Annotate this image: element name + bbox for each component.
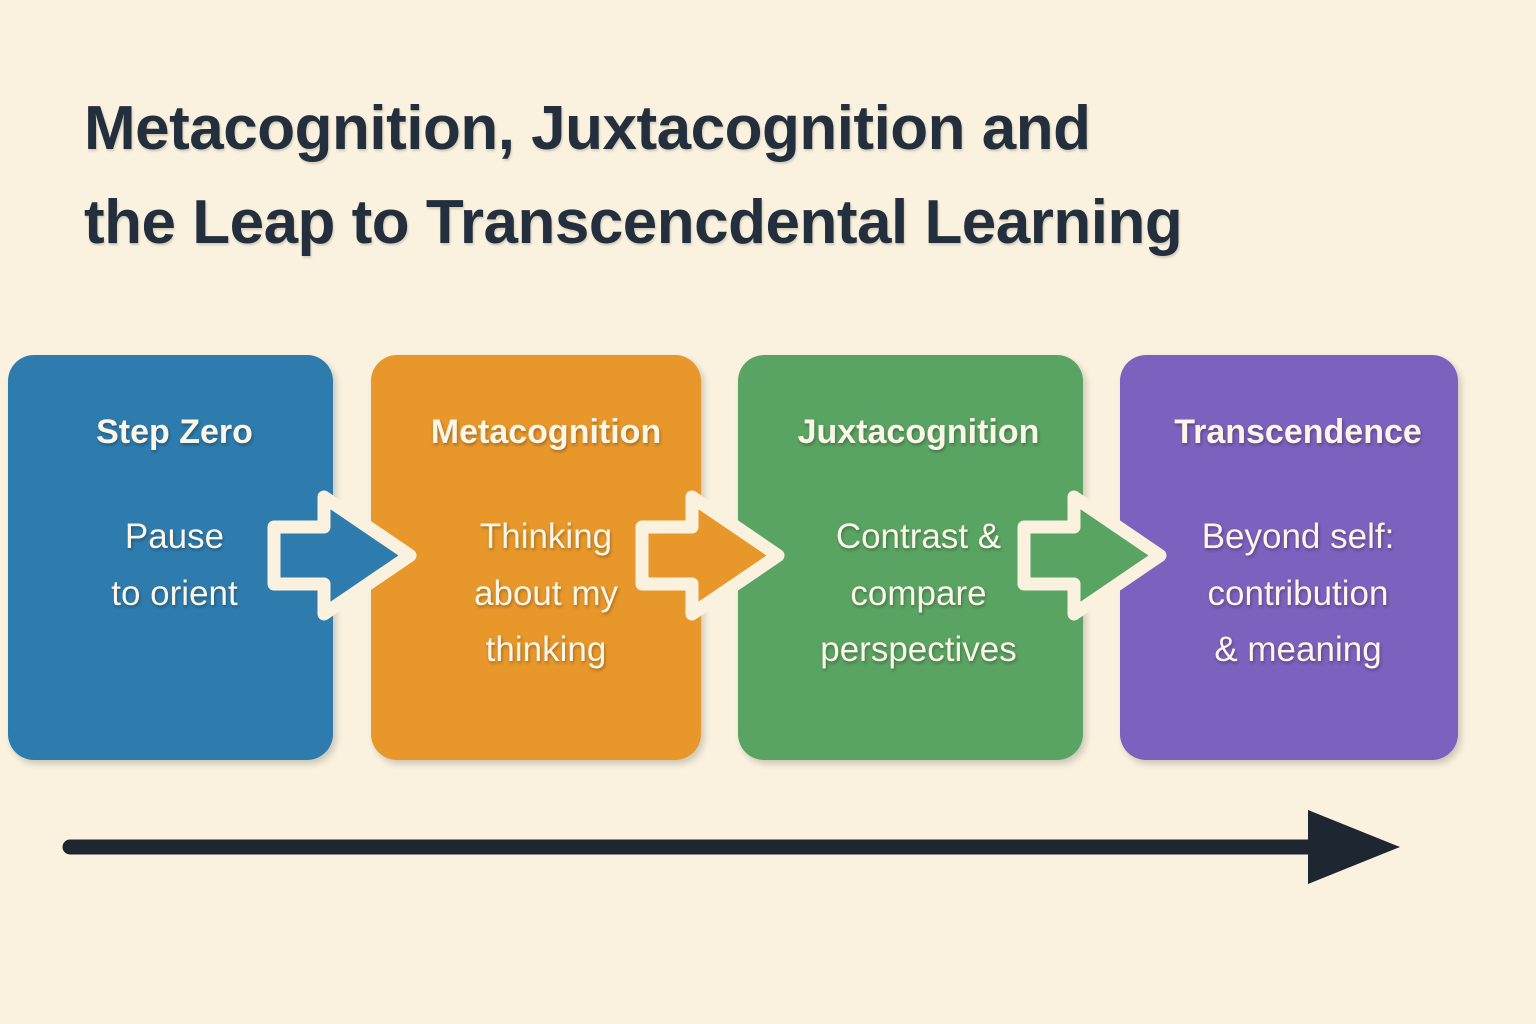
page-title: Metacognition, Juxtacognition and the Le… [84,82,1424,270]
stage-title-juxtacognition: Juxtacognition [798,413,1040,451]
stage-body-metacognition: Thinking about my thinking [474,509,618,679]
stage-flow: Step Zero Pause to orient Metacognition … [0,355,1536,760]
stage-box-metacognition[interactable]: Metacognition Thinking about my thinking [371,355,701,760]
stage-body-juxtacognition: Contrast & compare perspectives [820,509,1016,679]
stage-title-metacognition: Metacognition [431,413,661,451]
stage-title-step-zero: Step Zero [96,413,253,451]
diagram-canvas: Metacognition, Juxtacognition and the Le… [0,0,1536,1024]
stage-title-transcendence: Transcendence [1174,413,1422,451]
progress-arrow [60,800,1410,900]
arrow-head-icon [1308,810,1400,884]
stage-body-transcendence: Beyond self: contribution & meaning [1202,509,1395,679]
stage-box-juxtacognition[interactable]: Juxtacognition Contrast & compare perspe… [738,355,1083,760]
stage-box-transcendence[interactable]: Transcendence Beyond self: contribution … [1120,355,1458,760]
page-title-line-1: Metacognition, Juxtacognition and [84,82,1424,176]
stage-body-step-zero: Pause to orient [111,509,237,622]
stage-box-step-zero[interactable]: Step Zero Pause to orient [8,355,333,760]
page-title-line-2: the Leap to Transcencdental Learning [84,176,1424,270]
